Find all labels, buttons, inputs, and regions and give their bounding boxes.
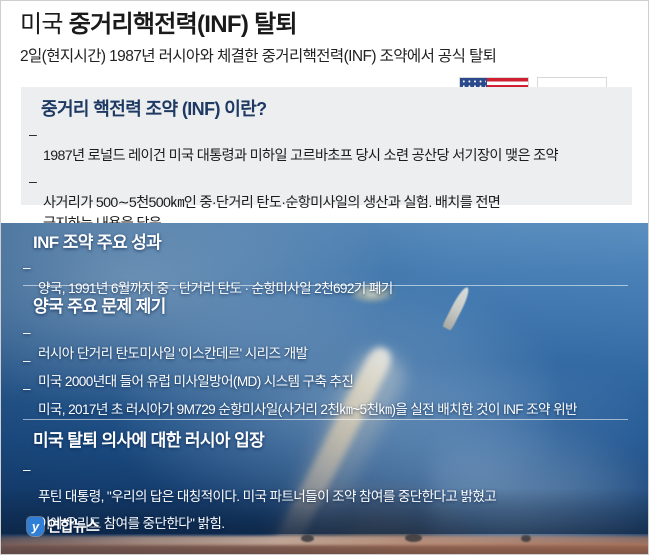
list-item: –푸틴 대통령, "우리의 답은 대칭적이다. 미국 파트너들이 조약 참여를 … <box>23 456 638 537</box>
page-title-prefix: 미국 <box>20 11 69 38</box>
page-subtitle: 2일(현지시간) 1987년 러시아와 체결한 중거리핵전력(INF) 조약에서… <box>20 46 496 68</box>
yonhap-news-logo: 연합뉴스 <box>27 517 99 536</box>
list-item-text: 푸틴 대통령, "우리의 답은 대칭적이다. 미국 파트너들이 조약 참여를 중… <box>38 489 496 531</box>
bullet-dash: – <box>23 322 30 343</box>
yonhap-logo-text: 연합뉴스 <box>47 517 99 536</box>
bullet-dash: – <box>23 456 30 483</box>
section-divider <box>23 419 628 420</box>
page-title-main: 중거리핵전력(INF) 탈퇴 <box>69 11 297 38</box>
yonhap-logo-mark-icon <box>27 517 44 536</box>
bullet-dash: – <box>23 378 30 399</box>
section-heading-bilateral-issues: 양국 주요 문제 제기 <box>33 295 166 318</box>
list-item-text: 양국, 1991년 6월까지 중 · 단거리 탄도 · 순항미사일 2천692기… <box>38 281 393 296</box>
bullet-dash: – <box>29 172 36 193</box>
list-item: –미국, 2017년 초 러시아가 9M729 순항미사일(사거리 2천㎞~5천… <box>23 378 649 420</box>
section-heading-russia-position: 미국 탈퇴 의사에 대한 러시아 입장 <box>33 429 264 452</box>
list-item: –1987년 로널드 레이건 미국 대통령과 미하일 고르바초프 당시 소련 공… <box>27 125 627 167</box>
infographic-root: 미국 중거리핵전력(INF) 탈퇴 2일(현지시간) 1987년 러시아와 체결… <box>0 0 649 555</box>
header-section: 미국 중거리핵전력(INF) 탈퇴 2일(현지시간) 1987년 러시아와 체결… <box>1 1 649 223</box>
bullet-dash: – <box>29 125 36 146</box>
section-divider <box>23 285 628 286</box>
bullet-dash: – <box>23 257 30 278</box>
section-heading-inf-achievements: INF 조약 주요 성과 <box>33 231 161 254</box>
treaty-definition-box: 중거리 핵전력 조약 (INF) 이란? –1987년 로널드 레이건 미국 대… <box>21 87 632 205</box>
bullet-dash: – <box>23 350 30 371</box>
list-item: –양국, 1991년 6월까지 중 · 단거리 탄도 · 순항미사일 2천692… <box>23 257 638 299</box>
list-item-text: 미국, 2017년 초 러시아가 9M729 순항미사일(사거리 2천㎞~5천㎞… <box>38 402 577 417</box>
missile-photo-section: INF 조약 주요 성과 –양국, 1991년 6월까지 중 · 단거리 탄도 … <box>1 223 649 555</box>
page-title: 미국 중거리핵전력(INF) 탈퇴 <box>20 10 297 40</box>
photo-text-content: INF 조약 주요 성과 –양국, 1991년 6월까지 중 · 단거리 탄도 … <box>1 223 649 555</box>
treaty-definition-title: 중거리 핵전력 조약 (INF) 이란? <box>41 97 267 121</box>
list-item-text: 1987년 로널드 레이건 미국 대통령과 미하일 고르바초프 당시 소련 공산… <box>43 148 558 164</box>
